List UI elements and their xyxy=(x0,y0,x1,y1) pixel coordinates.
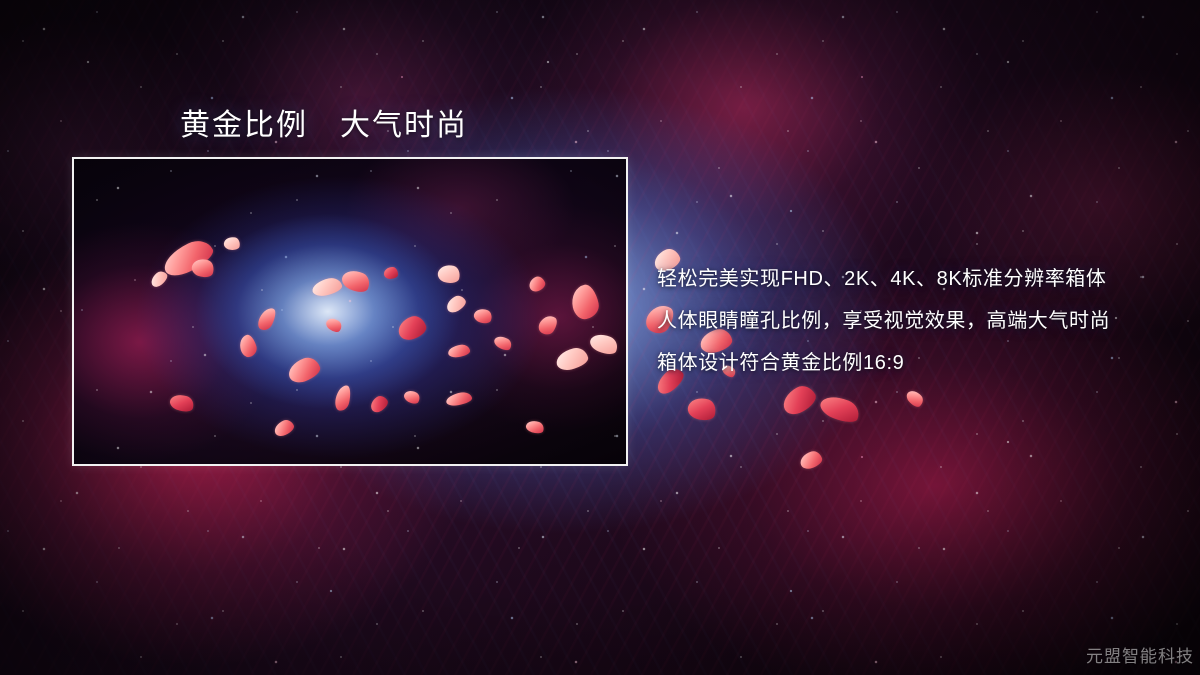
description-line-3: 箱体设计符合黄金比例16:9 xyxy=(657,342,1177,384)
description-line-2: 人体眼睛瞳孔比例，享受视觉效果，高端大气时尚 xyxy=(657,300,1177,342)
description-block: 轻松完美实现FHD、2K、4K、8K标准分辨率箱体 人体眼睛瞳孔比例，享受视觉效… xyxy=(657,258,1177,384)
watermark: 元盟智能科技 xyxy=(1086,642,1194,667)
slide-root: 黄金比例 大气时尚 轻松完美实现FHD、2K、4K、8K标准分辨率箱体 人体眼睛… xyxy=(0,0,1200,675)
framed-image[interactable] xyxy=(72,157,628,466)
petal xyxy=(384,267,398,279)
frame-starfield-medium xyxy=(74,159,626,464)
description-line-1: 轻松完美实现FHD、2K、4K、8K标准分辨率箱体 xyxy=(657,258,1177,300)
page-title: 黄金比例 大气时尚 xyxy=(180,100,468,144)
